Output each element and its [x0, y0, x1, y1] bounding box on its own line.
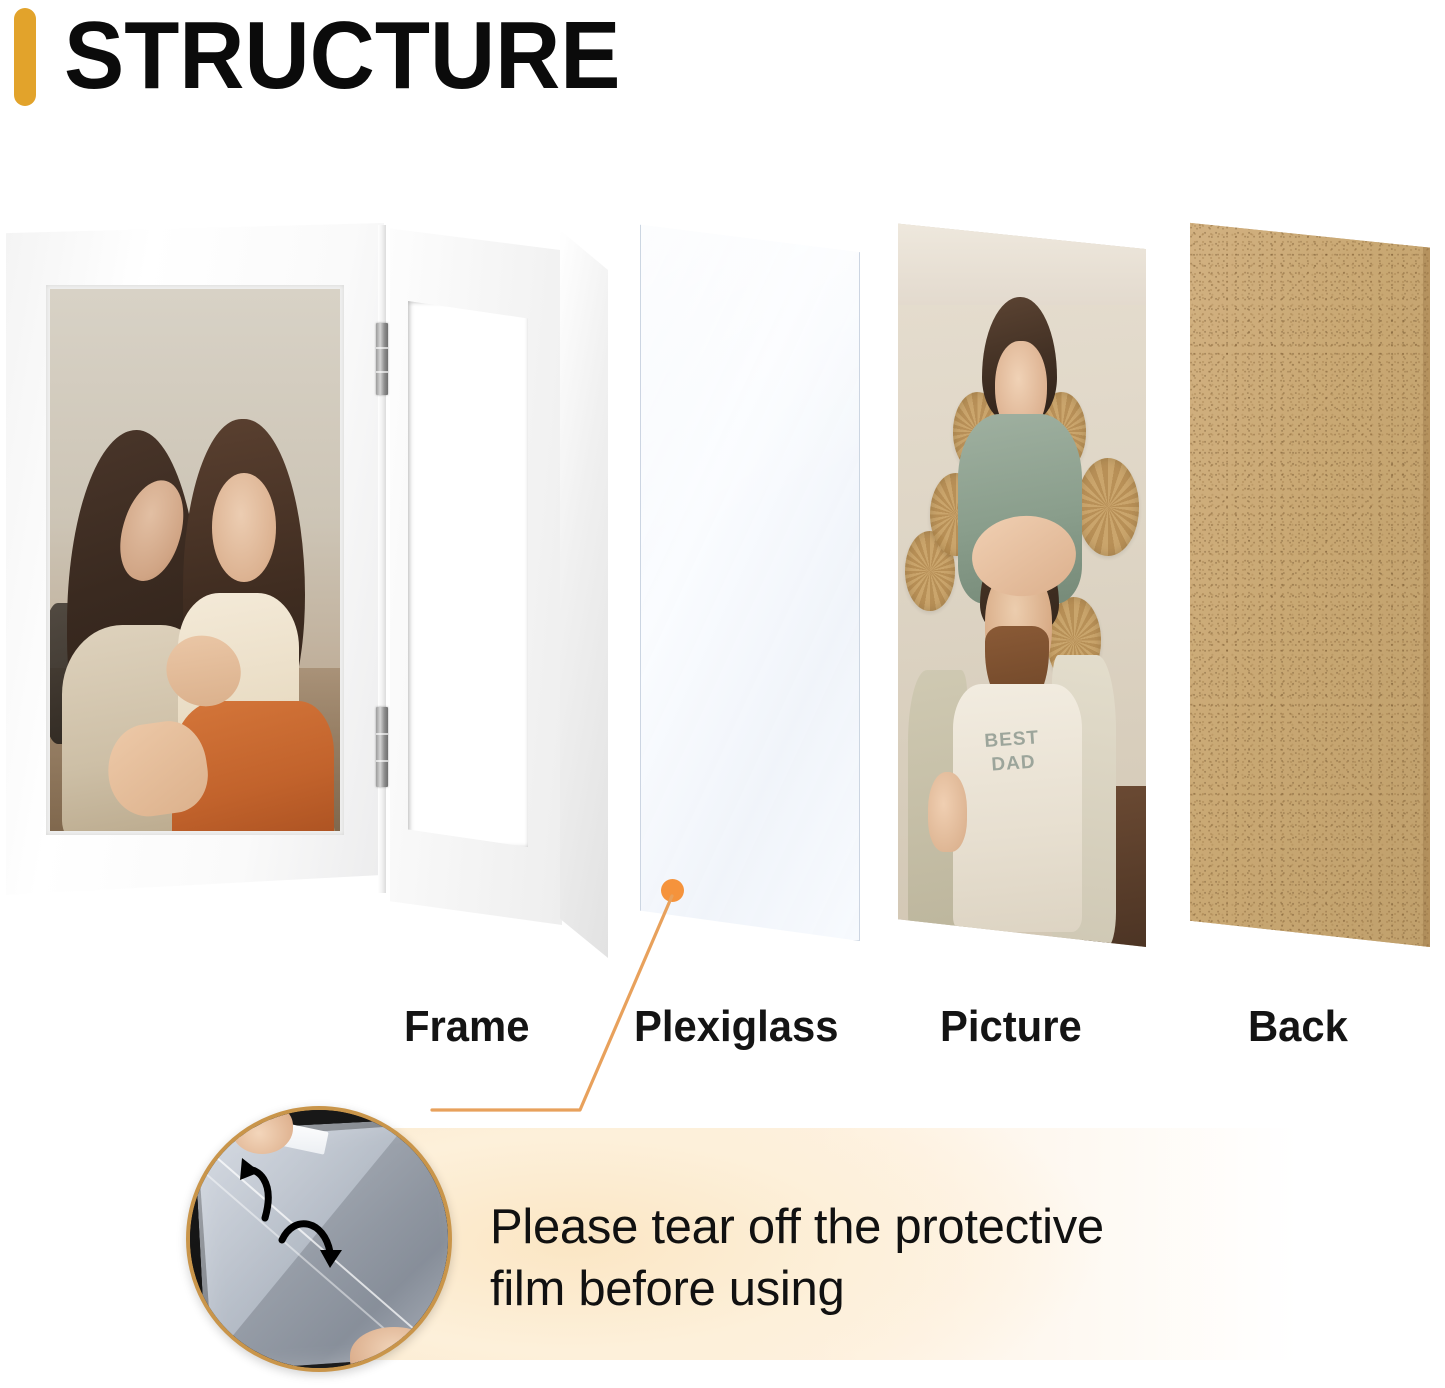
frame-mat — [46, 285, 344, 835]
frame-photo-mother-daughter — [50, 289, 340, 831]
picture-panel-father-child: BEST DAD — [898, 217, 1146, 947]
peel-direction-arrows — [190, 1110, 448, 1368]
plexiglass-callout-marker — [661, 879, 684, 902]
frame-right-opening-inner — [418, 307, 524, 839]
plexiglass-sheet — [640, 219, 860, 941]
component-labels: Frame Plexiglass Picture Back — [0, 1000, 1445, 1062]
hinge-icon-bottom — [376, 707, 388, 787]
protective-film-note: Please tear off the protective film befo… — [490, 1196, 1290, 1320]
frame-right-side-edge — [560, 230, 608, 958]
note-line-2: film before using — [490, 1258, 1290, 1320]
hinge-icon-top — [376, 323, 388, 395]
exploded-view-diagram: BEST DAD — [0, 195, 1445, 995]
note-line-1: Please tear off the protective — [490, 1200, 1104, 1254]
picture-shirt-text: BEST DAD — [967, 725, 1067, 891]
label-frame: Frame — [404, 1000, 529, 1054]
label-picture: Picture — [940, 1000, 1082, 1054]
label-back: Back — [1248, 1000, 1348, 1054]
film-peel-inset-photo — [186, 1106, 452, 1372]
page-header: STRUCTURE — [0, 0, 1445, 130]
frame-left-panel — [6, 223, 384, 895]
page-title: STRUCTURE — [64, 2, 620, 110]
label-plexiglass: Plexiglass — [634, 1000, 839, 1054]
title-accent-bar — [14, 8, 36, 106]
backboard-panel — [1190, 217, 1430, 947]
